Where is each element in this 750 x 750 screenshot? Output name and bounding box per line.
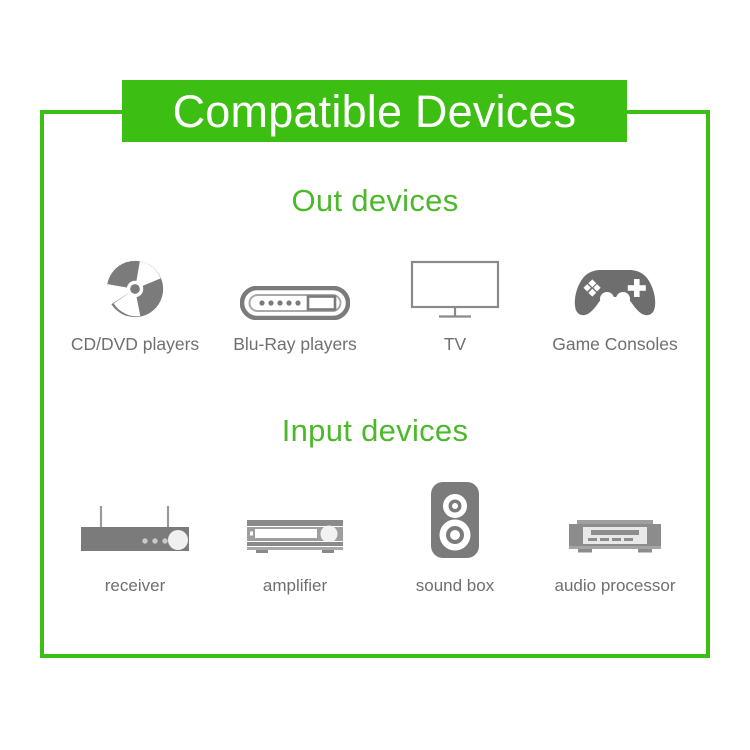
device-label: audio processor — [555, 576, 676, 596]
out-devices-row: CD/DVD players Blu-Ray players — [55, 250, 695, 355]
page-title: Compatible Devices — [173, 89, 577, 134]
device-label: CD/DVD players — [71, 334, 199, 355]
input-devices-row: receiver amplifier — [55, 480, 695, 596]
tv-icon — [410, 250, 500, 320]
device-label: receiver — [105, 576, 165, 596]
speaker-icon — [429, 480, 481, 560]
compatible-devices-infographic: Compatible Devices Out devices CD/DVD pl — [0, 0, 750, 750]
section-heading-input-devices: Input devices — [0, 413, 750, 449]
device-item-tv: TV — [375, 250, 535, 355]
device-item-cd-dvd-players: CD/DVD players — [55, 250, 215, 355]
device-item-blu-ray-players: Blu-Ray players — [215, 250, 375, 355]
amplifier-icon — [243, 480, 347, 560]
device-item-audio-processor: audio processor — [535, 480, 695, 596]
audio-processor-icon — [565, 480, 665, 560]
section-heading-out-devices: Out devices — [0, 183, 750, 219]
receiver-icon — [75, 480, 195, 560]
device-label: Blu-Ray players — [233, 334, 357, 355]
device-label: Game Consoles — [552, 334, 677, 355]
title-banner: Compatible Devices — [122, 80, 627, 142]
device-item-game-consoles: Game Consoles — [535, 250, 695, 355]
device-label: sound box — [416, 576, 494, 596]
device-item-sound-box: sound box — [375, 480, 535, 596]
device-item-receiver: receiver — [55, 480, 215, 596]
cd-disc-icon — [104, 250, 166, 320]
device-label: amplifier — [263, 576, 327, 596]
game-controller-icon — [571, 250, 659, 320]
blu-ray-player-icon — [240, 250, 350, 320]
device-item-amplifier: amplifier — [215, 480, 375, 596]
device-label: TV — [444, 334, 466, 355]
